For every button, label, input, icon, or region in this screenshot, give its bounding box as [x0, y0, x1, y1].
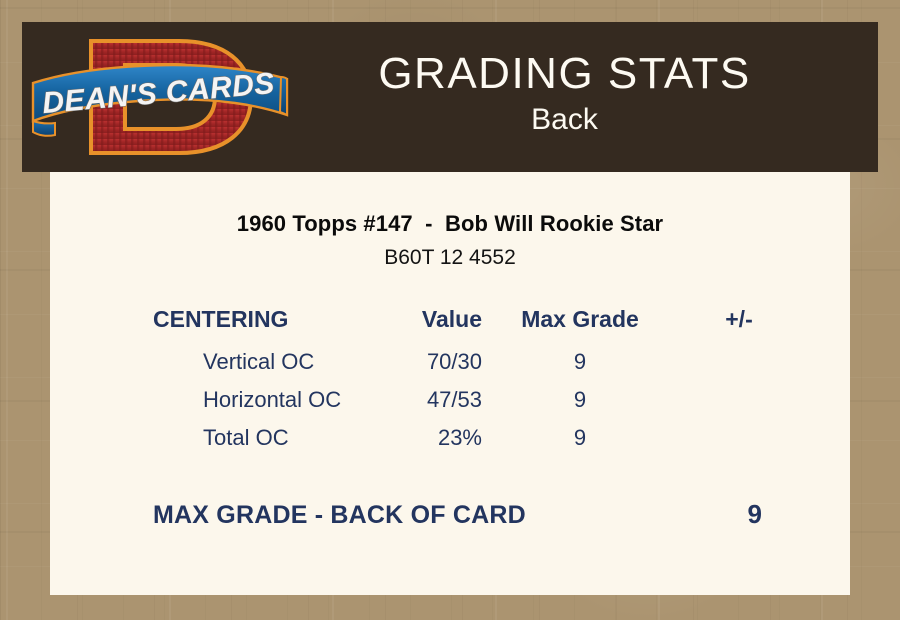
- content-panel: 1960 Topps #147 - Bob Will Rookie Star B…: [50, 172, 850, 595]
- column-header-max-grade: Max Grade: [490, 306, 670, 343]
- row-label: Horizontal OC: [50, 381, 360, 419]
- row-max-grade: 9: [490, 381, 670, 419]
- table-row: Horizontal OC 47/53 9: [50, 381, 850, 419]
- row-value: 23%: [360, 419, 490, 457]
- deans-cards-logo: DEAN'S CARDS: [29, 31, 291, 163]
- row-label: Total OC: [50, 419, 360, 457]
- max-grade-summary: MAX GRADE - BACK OF CARD 9: [50, 499, 850, 530]
- table-row: Vertical OC 70/30 9: [50, 343, 850, 381]
- table-header-row: CENTERING Value Max Grade +/-: [50, 306, 850, 343]
- max-grade-label: MAX GRADE - BACK OF CARD: [153, 501, 748, 530]
- card-code: B60T 12 4552: [50, 246, 850, 270]
- page-subtitle: Back: [291, 100, 838, 139]
- column-header-plus-minus: +/-: [670, 306, 850, 343]
- row-plus-minus: [670, 419, 850, 457]
- row-max-grade: 9: [490, 343, 670, 381]
- header-bar: DEAN'S CARDS GRADING STATS Back: [22, 22, 878, 172]
- card-title: 1960 Topps #147 - Bob Will Rookie Star: [50, 211, 850, 237]
- header-title-group: GRADING STATS Back: [291, 51, 878, 139]
- grading-stats-table: CENTERING Value Max Grade +/- Vertical O…: [50, 306, 850, 457]
- row-max-grade: 9: [490, 419, 670, 457]
- page-title: GRADING STATS: [291, 51, 838, 97]
- row-plus-minus: [670, 343, 850, 381]
- row-value: 47/53: [360, 381, 490, 419]
- column-header-centering: CENTERING: [50, 306, 360, 343]
- row-label: Vertical OC: [50, 343, 360, 381]
- row-plus-minus: [670, 381, 850, 419]
- column-header-value: Value: [360, 306, 490, 343]
- row-value: 70/30: [360, 343, 490, 381]
- max-grade-value: 9: [748, 499, 762, 530]
- table-row: Total OC 23% 9: [50, 419, 850, 457]
